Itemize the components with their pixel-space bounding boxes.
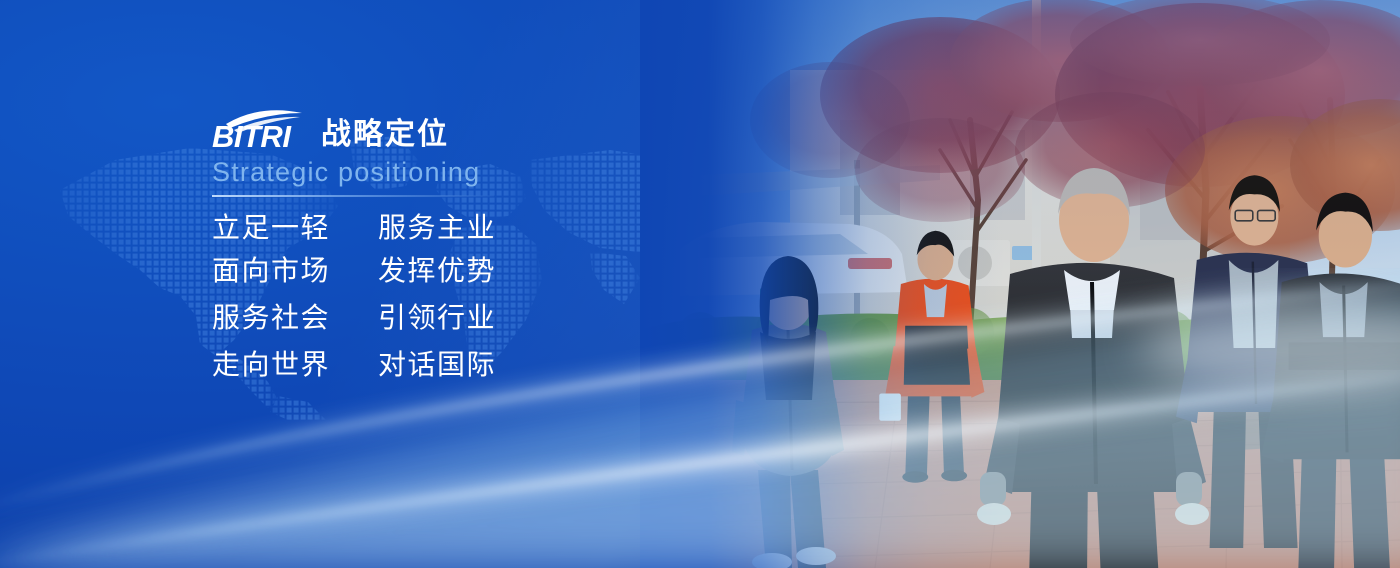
photo-left-fade xyxy=(640,0,1400,568)
slogan-row: 服务社会 引领行业 xyxy=(212,304,652,332)
slogan-right: 引领行业 xyxy=(378,304,496,332)
slogan-list: 立足一轻 服务主业 面向市场 发挥优势 服务社会 引领行业 走向世界 对话国际 xyxy=(212,214,652,379)
slogan-left: 面向市场 xyxy=(212,257,352,285)
slogan-left: 立足一轻 xyxy=(212,214,352,242)
banner-subtitle-en: Strategic positioning xyxy=(212,158,652,188)
campus-walk-photo xyxy=(640,0,1400,568)
slogan-left: 服务社会 xyxy=(212,304,352,332)
strategic-positioning-banner: BITRI 战略定位 Strategic positioning 立足一轻 服务… xyxy=(0,0,1400,568)
banner-text-block: BITRI 战略定位 Strategic positioning 立足一轻 服务… xyxy=(212,104,652,379)
slogan-right: 发挥优势 xyxy=(378,257,496,285)
slogan-row: 走向世界 对话国际 xyxy=(212,351,652,379)
banner-title-cn: 战略定位 xyxy=(321,120,449,152)
bitri-wordmark: BITRI xyxy=(212,121,290,152)
slogan-row: 面向市场 发挥优势 xyxy=(212,257,652,285)
slogan-left: 走向世界 xyxy=(212,351,352,379)
bitri-logo: BITRI xyxy=(212,106,307,152)
slogan-right: 对话国际 xyxy=(378,351,496,379)
slogan-right: 服务主业 xyxy=(378,214,496,242)
title-row: BITRI 战略定位 xyxy=(212,104,652,152)
title-divider xyxy=(212,195,494,197)
slogan-row: 立足一轻 服务主业 xyxy=(212,214,652,242)
